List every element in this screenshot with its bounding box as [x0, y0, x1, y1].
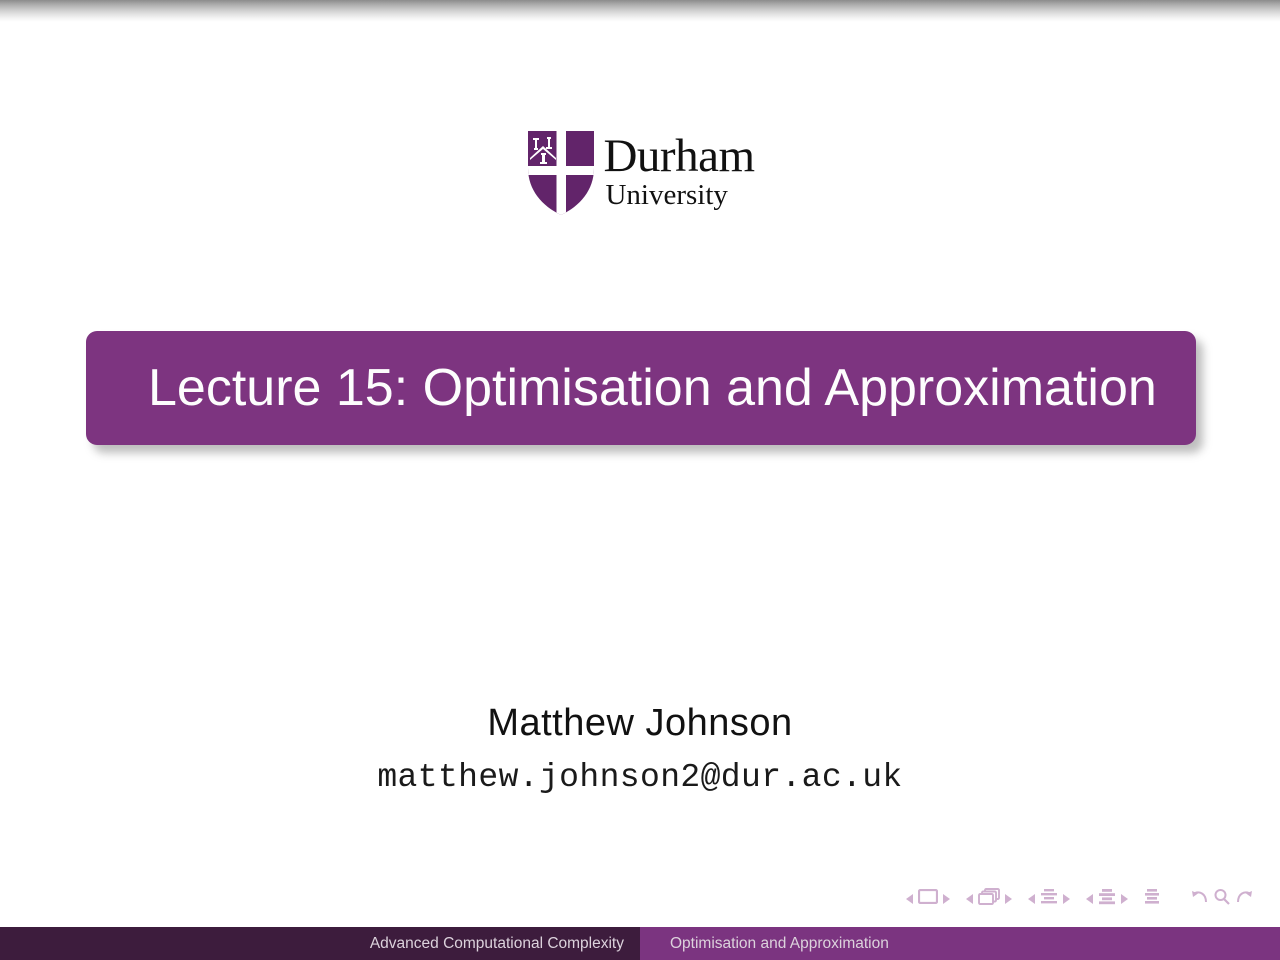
footer-section-segment[interactable]: Optimisation and Approximation [640, 927, 1280, 960]
footer-course-title: Advanced Computational Complexity [370, 935, 624, 953]
next-slide-icon[interactable] [943, 894, 950, 904]
previous-section-icon[interactable] [1086, 894, 1093, 904]
logo-line-durham: Durham [603, 134, 754, 179]
search-icon[interactable] [1213, 888, 1231, 911]
viewer-top-shading [0, 0, 1280, 22]
presentation-slide: Durham University Lecture 15: Optimisati… [0, 0, 1280, 960]
back-icon[interactable] [1190, 888, 1210, 911]
slide-icon[interactable] [918, 889, 938, 909]
durham-university-logo: Durham University [0, 128, 1280, 218]
footer-course-segment[interactable]: Advanced Computational Complexity [0, 927, 640, 960]
previous-frame-icon[interactable] [966, 894, 973, 904]
subsection-icon[interactable] [1040, 888, 1058, 910]
document-icon[interactable] [1144, 888, 1160, 910]
author-block: Matthew Johnson matthew.johnson2@dur.ac.… [0, 702, 1280, 796]
section-navigation-group[interactable] [1086, 888, 1128, 910]
slide-title: Lecture 15: Optimisation and Approximati… [86, 358, 1157, 418]
next-section-icon[interactable] [1121, 894, 1128, 904]
previous-slide-icon[interactable] [906, 894, 913, 904]
next-frame-icon[interactable] [1005, 894, 1012, 904]
previous-subsection-icon[interactable] [1028, 894, 1035, 904]
author-email: matthew.johnson2@dur.ac.uk [0, 759, 1280, 796]
section-icon[interactable] [1098, 888, 1116, 910]
next-subsection-icon[interactable] [1063, 894, 1070, 904]
subsection-navigation-group[interactable] [1028, 888, 1070, 910]
footer-section-title: Optimisation and Approximation [670, 935, 889, 953]
document-navigation-group[interactable] [1144, 888, 1160, 910]
frame-icon[interactable] [978, 888, 1000, 910]
slide-navigation-group[interactable] [906, 889, 950, 909]
beamer-navigation-symbols[interactable] [906, 884, 1254, 914]
author-name: Matthew Johnson [0, 702, 1280, 745]
durham-wordmark: Durham University [603, 134, 754, 211]
forward-icon[interactable] [1234, 888, 1254, 911]
frame-navigation-group[interactable] [966, 888, 1012, 910]
durham-shield-icon [525, 128, 597, 218]
title-banner: Lecture 15: Optimisation and Approximati… [86, 331, 1196, 445]
slide-footer: Advanced Computational Complexity Optimi… [0, 927, 1280, 960]
logo-line-university: University [605, 180, 727, 210]
history-navigation-group[interactable] [1190, 888, 1254, 911]
